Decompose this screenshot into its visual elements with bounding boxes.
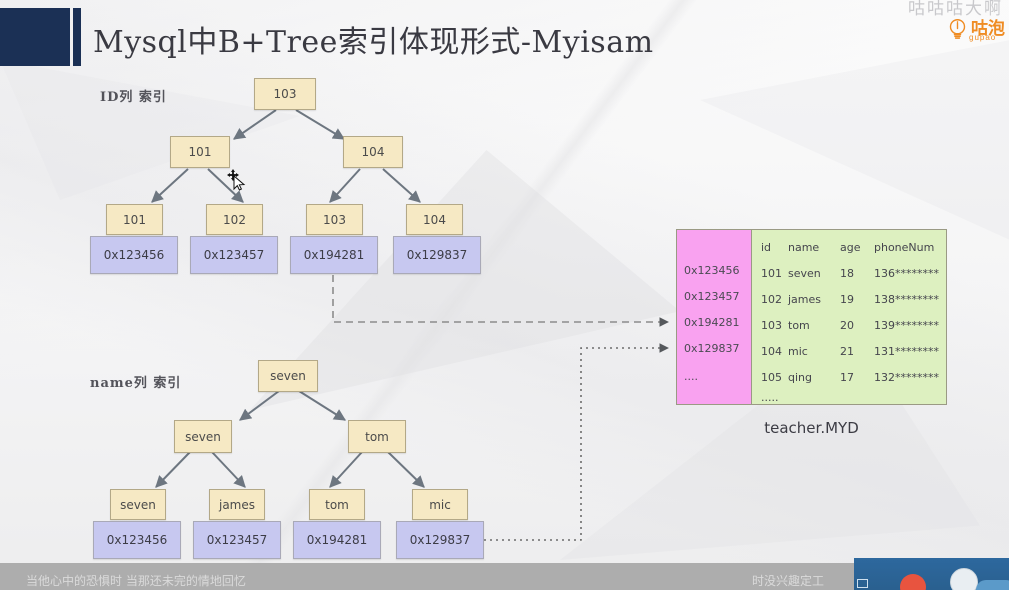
- gupao-logo: 咕泡 gupao: [947, 18, 1005, 39]
- cell-age: 17: [840, 371, 874, 384]
- cell-name: tom: [788, 319, 840, 332]
- thumbnail-sun-shape: [900, 574, 926, 590]
- cell-id: 104: [752, 345, 788, 358]
- name-leaf-key: mic: [412, 489, 468, 520]
- name-leaf-key: james: [209, 489, 265, 520]
- bottom-left-subtitle: 当他心中的恐惧时 当那还未完的情地回忆: [26, 572, 246, 589]
- table-row: 103 tom 20 139********: [752, 312, 946, 338]
- table-row: 104 mic 21 131********: [752, 338, 946, 364]
- teacher-myd-block: 0x123456 0x123457 0x194281 0x129837 ....…: [676, 229, 947, 405]
- name-leaf-key: tom: [309, 489, 365, 520]
- id-tree-root: 103: [254, 78, 316, 110]
- myd-pointer-column: 0x123456 0x123457 0x194281 0x129837 ....: [677, 230, 752, 404]
- id-tree-node-left: 101: [170, 136, 230, 168]
- name-tree-node-left: seven: [174, 420, 232, 453]
- move-cursor: [226, 168, 248, 192]
- cell-id: 102: [752, 293, 788, 306]
- id-leaf-pointer: 0x129837: [393, 236, 481, 274]
- id-leaf-pointer: 0x194281: [290, 236, 378, 274]
- cell-name: mic: [788, 345, 840, 358]
- cell-phone: 139********: [874, 319, 946, 332]
- bottom-right-subtitle: 时没兴趣定工: [752, 572, 824, 589]
- myd-pointer-cell: 0x194281: [684, 316, 740, 329]
- cell-age: 21: [840, 345, 874, 358]
- cell-phone: 132********: [874, 371, 946, 384]
- table-row: 101 seven 18 136********: [752, 260, 946, 286]
- myd-records-table: id name age phoneNum 101 seven 18 136***…: [752, 230, 946, 404]
- id-tree-node-right: 104: [343, 136, 403, 168]
- table-ellipsis-row: .....: [752, 384, 946, 410]
- title-accent-block: [0, 8, 70, 66]
- cell-age: 18: [840, 267, 874, 280]
- title-accent-bar: [73, 8, 81, 66]
- myd-caption: teacher.MYD: [676, 419, 947, 437]
- cell-id: 105: [752, 371, 788, 384]
- table-header-row: id name age phoneNum: [752, 234, 946, 260]
- thumbnail-cloud-shape: [976, 580, 1009, 590]
- lightbulb-icon: [947, 18, 968, 39]
- name-tree-node-right: tom: [348, 420, 406, 453]
- myd-pointer-cell: 0x129837: [684, 342, 740, 355]
- cell-age: 19: [840, 293, 874, 306]
- name-index-label: name列 索引: [90, 372, 181, 391]
- column-header-phone: phoneNum: [874, 241, 946, 254]
- name-leaf-pointer: 0x194281: [293, 521, 381, 559]
- myd-pointer-cell: 0x123457: [684, 290, 740, 303]
- cell-name: james: [788, 293, 840, 306]
- table-row: 102 james 19 138********: [752, 286, 946, 312]
- cell-phone: 131********: [874, 345, 946, 358]
- cell-phone: 136********: [874, 267, 946, 280]
- name-leaf-pointer: 0x123456: [93, 521, 181, 559]
- myd-pointer-cell: 0x123456: [684, 264, 740, 277]
- id-leaf-key: 102: [206, 204, 263, 235]
- name-leaf-pointer: 0x129837: [396, 521, 484, 559]
- id-leaf-key: 104: [406, 204, 463, 235]
- video-thumbnail-overlay[interactable]: [854, 558, 1009, 590]
- column-header-id: id: [752, 241, 788, 254]
- name-tree-root: seven: [258, 360, 318, 392]
- id-leaf-key: 103: [306, 204, 363, 235]
- cell-name: seven: [788, 267, 840, 280]
- column-header-name: name: [788, 241, 840, 254]
- myd-pointer-cell: ....: [684, 370, 698, 383]
- id-leaf-key: 101: [106, 204, 163, 235]
- id-leaf-pointer: 0x123456: [90, 236, 178, 274]
- cell-phone: 138********: [874, 293, 946, 306]
- name-leaf-pointer: 0x123457: [193, 521, 281, 559]
- name-leaf-key: seven: [110, 489, 166, 520]
- background-facet: [700, 40, 1009, 240]
- cell-id: 103: [752, 319, 788, 332]
- cell-age: 20: [840, 319, 874, 332]
- watermark-text: 咕咕咕大啊: [908, 0, 1003, 19]
- cell-id: 101: [752, 267, 788, 280]
- id-index-label: ID列 索引: [100, 86, 167, 105]
- cell-ellipsis: .....: [752, 391, 788, 404]
- column-header-age: age: [840, 241, 874, 254]
- thumbnail-badge-icon: [857, 579, 868, 588]
- page-title: Mysql中B+Tree索引体现形式-Myisam: [93, 17, 654, 61]
- cell-name: qing: [788, 371, 840, 384]
- logo-subtitle: gupao: [969, 33, 996, 42]
- thumbnail-dial-shape: [950, 568, 978, 590]
- slide-canvas: Mysql中B+Tree索引体现形式-Myisam 咕咕咕大啊 咕泡 gupao: [0, 0, 1009, 590]
- id-leaf-pointer: 0x123457: [190, 236, 278, 274]
